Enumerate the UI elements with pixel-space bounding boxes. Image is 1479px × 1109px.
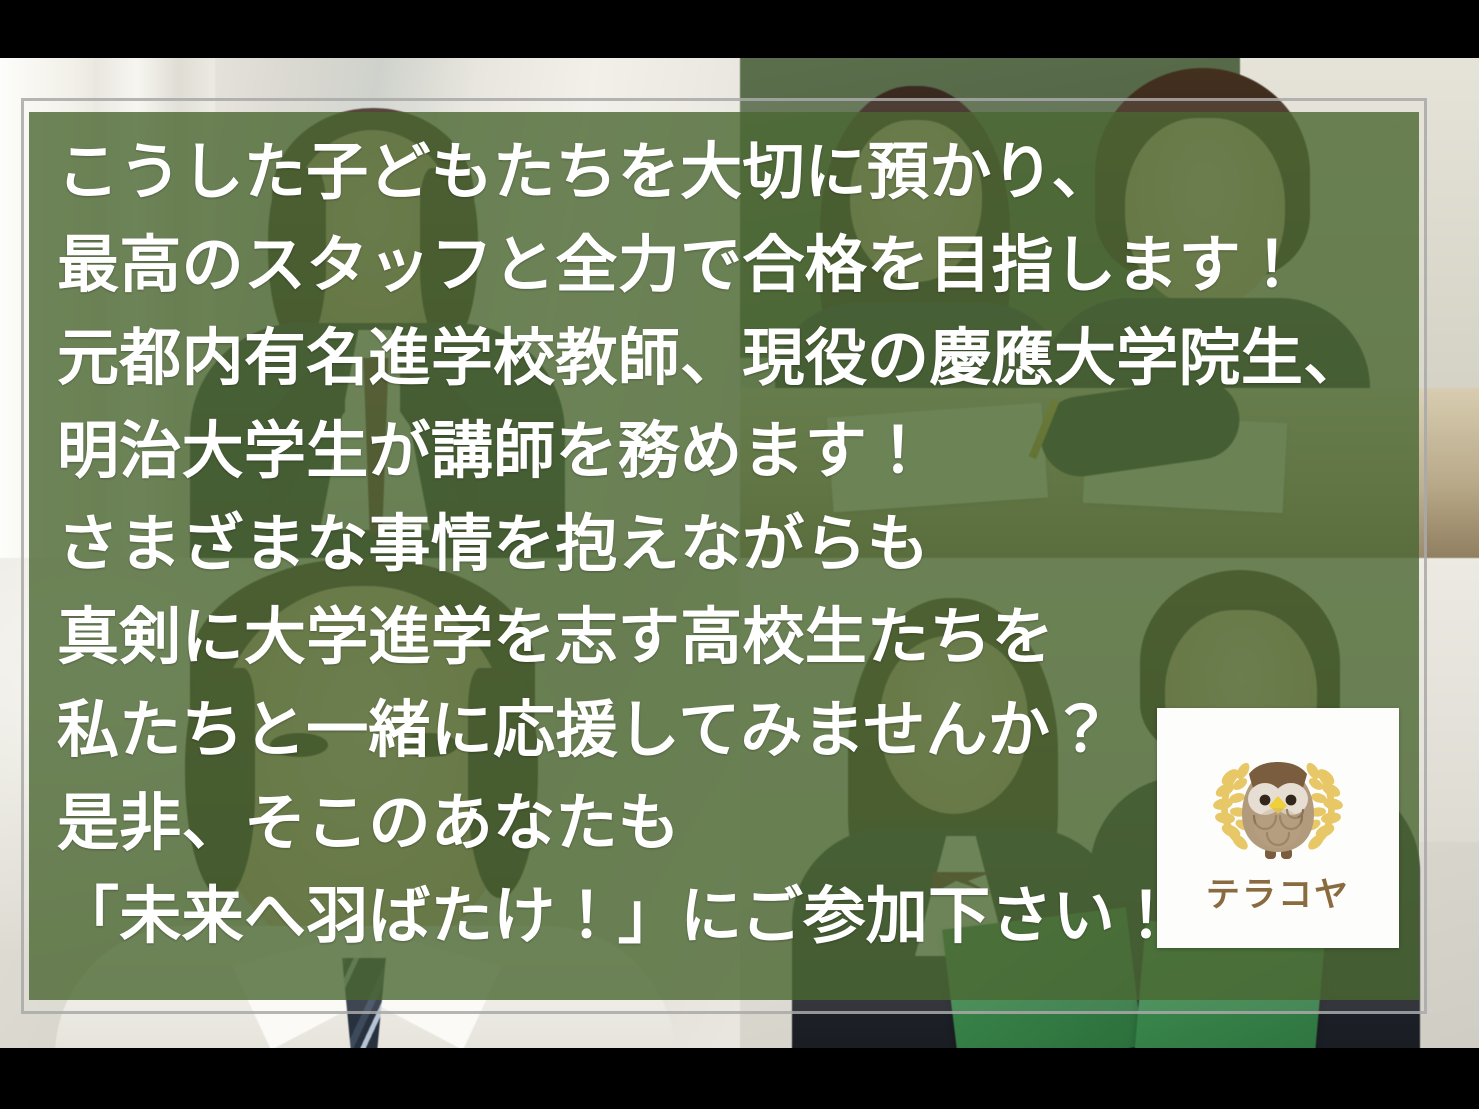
logo-wordmark: テラコヤ: [1206, 878, 1350, 912]
slide-canvas: こうした子どもたちを大切に預かり、 最高のスタッフと全力で合格を目指します！ 元…: [0, 0, 1479, 1109]
terakoya-logo-card: テラコヤ: [1157, 708, 1399, 948]
message-line-3: 元都内有名進学校教師、現役の慶應大学院生、: [57, 312, 1417, 405]
letterbox-bottom: [0, 1048, 1479, 1109]
letterbox-top: [0, 0, 1479, 58]
message-line-4: 明治大学生が講師を務めます！: [57, 405, 1417, 498]
message-line-1: こうした子どもたちを大切に預かり、: [57, 126, 1417, 219]
owl-laurel-logo-icon: [1203, 744, 1353, 874]
message-line-5: さまざまな事情を抱えながらも: [57, 498, 1417, 591]
message-line-2: 最高のスタッフと全力で合格を目指します！: [57, 219, 1417, 312]
message-line-6: 真剣に大学進学を志す高校生たちを: [57, 591, 1417, 684]
